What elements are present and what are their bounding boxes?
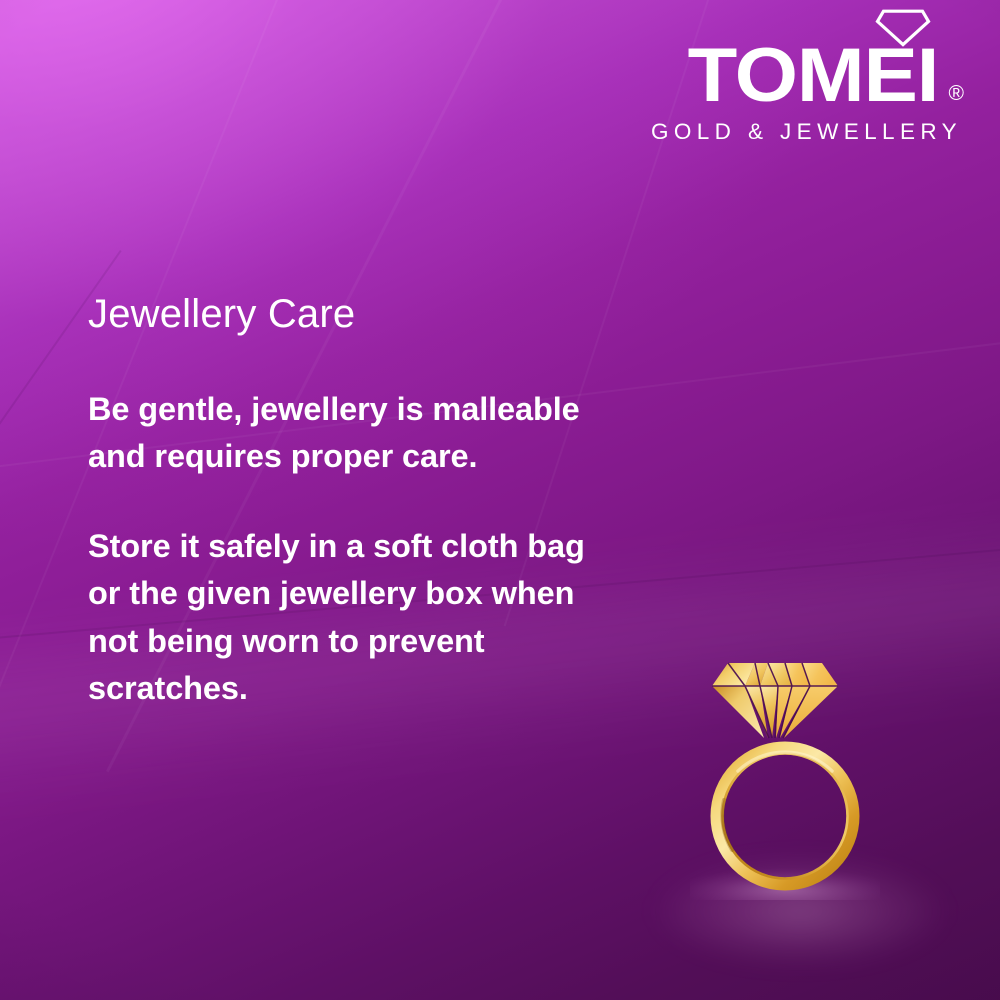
diamond-ring-illustration (690, 650, 880, 900)
brand-tagline: GOLD & JEWELLERY (638, 119, 964, 145)
registered-trademark-icon: ® (949, 83, 964, 104)
copy-block: Jewellery Care Be gentle, jewellery is m… (88, 292, 648, 713)
care-paragraph-2: Store it safely in a soft cloth bag or t… (88, 523, 648, 713)
ring-band-icon (717, 748, 853, 884)
care-paragraph-1: Be gentle, jewellery is malleable and re… (88, 386, 648, 481)
brand-logo: TOMEI ® GOLD & JEWELLERY (638, 6, 964, 145)
diamond-gem-icon (712, 663, 838, 738)
brand-wordmark: TOMEI (688, 44, 939, 108)
brand-wordmark-line: TOMEI ® (638, 6, 964, 108)
poster-canvas: TOMEI ® GOLD & JEWELLERY Jewellery Care … (0, 0, 1000, 1000)
page-title: Jewellery Care (88, 292, 648, 336)
